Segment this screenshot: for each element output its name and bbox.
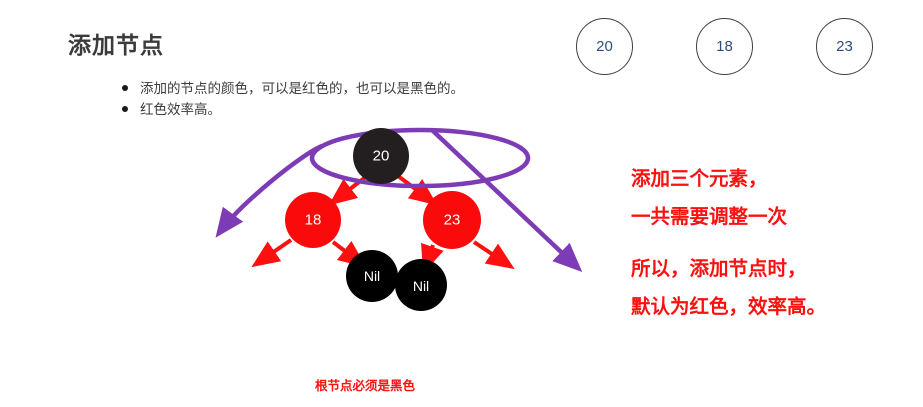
value-circle-20: 20 (576, 18, 633, 75)
tree-node-23-label: 23 (444, 212, 461, 229)
list-item: 红色效率高。 (122, 99, 542, 120)
value-circle-18: 18 (696, 18, 753, 75)
annotation-line-2: 一共需要调整一次 (631, 198, 921, 236)
edge-23-to-right-nil (474, 242, 510, 266)
value-circle-label: 23 (836, 38, 853, 55)
edge-root-to-23 (398, 176, 433, 202)
tree-node-nil-right-label: Nil (413, 278, 429, 294)
list-item-label: 红色效率高。 (140, 102, 221, 117)
tree-svg: Nil Nil 18 23 20 (190, 118, 610, 318)
bullet-dot-icon (122, 106, 128, 112)
list-item: 添加的节点的颜色，可以是红色的，也可以是黑色的。 (122, 78, 542, 99)
annotation-line-3: 所以，添加节点时， (631, 250, 921, 288)
annotation-text-block: 添加三个元素， 一共需要调整一次 所以，添加节点时， 默认为红色，效率高。 (631, 160, 921, 326)
tree-node-20-label: 20 (373, 148, 390, 165)
edge-18-to-left-nil (256, 240, 291, 264)
value-circle-label: 20 (596, 38, 613, 55)
value-circle-23: 23 (816, 18, 873, 75)
annotation-line-1: 添加三个元素， (631, 160, 921, 198)
bullet-list: 添加的节点的颜色，可以是红色的，也可以是黑色的。 红色效率高。 (122, 78, 542, 120)
red-black-tree-diagram: Nil Nil 18 23 20 (190, 118, 610, 318)
root-highlight-ellipse (312, 130, 528, 186)
tree-node-nil-left-label: Nil (364, 268, 380, 284)
bottom-caption: 根节点必须是黑色 (315, 375, 415, 394)
list-item-label: 添加的节点的颜色，可以是红色的，也可以是黑色的。 (140, 81, 464, 96)
bullet-dot-icon (122, 85, 128, 91)
tree-node-18-label: 18 (305, 212, 322, 229)
value-circle-label: 18 (716, 38, 733, 55)
annotation-line-4: 默认为红色，效率高。 (631, 288, 921, 326)
page-title: 添加节点 (68, 26, 164, 60)
